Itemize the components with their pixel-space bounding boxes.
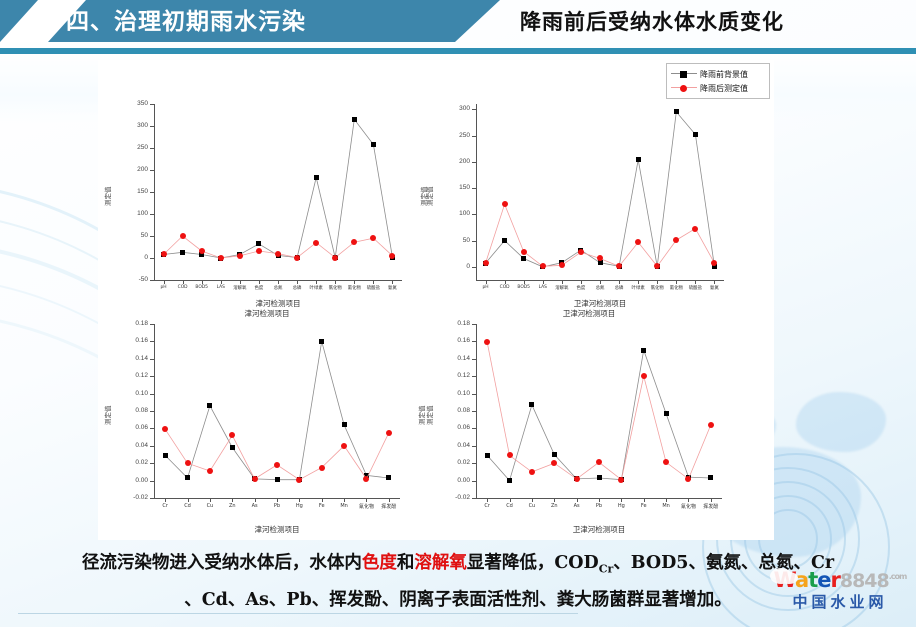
data-point-before	[552, 452, 557, 457]
y-tick-label: 0.04	[434, 442, 470, 449]
x-tick	[695, 280, 696, 284]
y-tick-label: 200	[112, 166, 148, 173]
y-tick-label: 0.14	[434, 355, 470, 362]
x-tick	[322, 498, 323, 502]
caption-highlight-do: 溶解氧	[414, 553, 467, 573]
y-tick-label: 0.08	[112, 407, 148, 414]
data-point-after	[551, 460, 557, 466]
x-tick	[188, 498, 189, 502]
y-tick-label: 150	[112, 188, 148, 195]
x-tick	[240, 280, 241, 284]
x-tick	[524, 280, 525, 284]
data-point-before	[352, 117, 357, 122]
y-tick	[150, 258, 154, 259]
y-tick	[472, 324, 476, 325]
data-point-after	[274, 462, 280, 468]
y-tick-label: 250	[112, 144, 148, 151]
data-point-before	[502, 238, 507, 243]
x-tick	[562, 280, 563, 284]
data-point-after	[529, 469, 535, 475]
y-tick	[150, 126, 154, 127]
legend-square-marker-icon	[671, 68, 697, 80]
header-rule	[0, 48, 916, 54]
y-tick	[472, 241, 476, 242]
y-axis-label: 测定值	[424, 406, 434, 426]
data-point-after	[574, 476, 580, 482]
y-tick-label: 0	[434, 263, 470, 270]
caption-seg-2: 和	[397, 553, 415, 573]
caption-cod-subscript: Cr	[599, 563, 614, 576]
y-tick-label: -0.02	[112, 494, 148, 501]
data-point-after	[692, 226, 698, 232]
y-tick	[150, 411, 154, 412]
y-tick	[472, 162, 476, 163]
slide-caption: 径流污染物进入受纳水体后，水体内色度和溶解氧显著降低，CODCr、BOD5、氨氮…	[20, 548, 896, 610]
data-point-after	[673, 237, 679, 243]
y-tick	[150, 359, 154, 360]
wm-letter-a: a	[795, 568, 808, 592]
caption-seg-1: 径流污染物进入受纳水体后，水体内	[82, 553, 362, 573]
series-line-after	[108, 308, 426, 536]
x-tick-label: 氨氮	[374, 285, 410, 291]
data-point-after	[180, 233, 186, 239]
data-point-before	[230, 445, 235, 450]
x-tick	[259, 280, 260, 284]
data-point-after	[341, 443, 347, 449]
data-point-after	[218, 255, 224, 261]
y-tick-label: 300	[434, 105, 470, 112]
y-tick	[150, 446, 154, 447]
y-tick	[150, 376, 154, 377]
y-tick	[150, 498, 154, 499]
legend-label-after: 降雨后测定值	[700, 83, 748, 94]
y-tick	[472, 214, 476, 215]
data-point-after	[275, 251, 281, 257]
y-tick-label: 150	[434, 184, 470, 191]
y-tick	[472, 498, 476, 499]
data-point-before	[275, 477, 280, 482]
legend-label-before: 降雨前背景值	[700, 69, 748, 80]
data-point-after	[596, 459, 602, 465]
data-point-before	[597, 475, 602, 480]
x-tick	[577, 498, 578, 502]
y-axis-line	[476, 324, 477, 498]
y-axis-label: 测定值	[102, 406, 112, 426]
y-tick-label: 0.10	[434, 390, 470, 397]
x-tick	[221, 280, 222, 284]
chart-title: 津河检测项目	[108, 308, 426, 319]
series-line-before	[108, 308, 426, 536]
y-tick-label: 0.04	[112, 442, 148, 449]
splash-blob	[796, 392, 886, 452]
y-axis-line	[154, 104, 155, 280]
y-axis-line	[154, 324, 155, 498]
chart-jinhe-general: -50050100150200250300350pHCODBOD5LAS溶解氧色…	[108, 98, 426, 310]
x-tick	[344, 498, 345, 502]
y-tick-label: 0.00	[434, 477, 470, 484]
x-tick	[688, 498, 689, 502]
data-point-before	[507, 478, 512, 483]
y-tick	[150, 170, 154, 171]
y-axis-line	[476, 104, 477, 280]
series-line-before	[430, 98, 748, 310]
y-tick	[150, 214, 154, 215]
wm-letter-r: r	[831, 568, 840, 592]
wm-letter-t: t	[808, 568, 817, 592]
x-axis-label: 卫津河检测项目	[476, 524, 722, 535]
data-point-before	[342, 422, 347, 427]
data-point-after	[663, 459, 669, 465]
x-tick	[676, 280, 677, 284]
wm-letter-e: e	[817, 568, 830, 592]
y-tick	[472, 267, 476, 268]
x-tick	[486, 280, 487, 284]
x-tick	[366, 498, 367, 502]
data-point-before	[163, 453, 168, 458]
y-tick	[472, 359, 476, 360]
x-tick	[711, 498, 712, 502]
x-tick	[621, 498, 622, 502]
x-tick	[599, 498, 600, 502]
data-point-before	[180, 250, 185, 255]
y-tick-label: 0.08	[434, 407, 470, 414]
page-subtitle: 降雨前后受纳水体水质变化	[520, 4, 890, 40]
y-tick	[472, 411, 476, 412]
watermark-logo: Water8848.com 中国水业网	[772, 566, 908, 618]
x-tick	[505, 280, 506, 284]
x-tick	[335, 280, 336, 284]
y-tick-label: 0.18	[112, 320, 148, 327]
data-point-before	[386, 475, 391, 480]
y-tick-label: 50	[434, 237, 470, 244]
y-tick-label: 0.06	[434, 424, 470, 431]
page-title: 四、治理初期雨水污染	[66, 4, 396, 40]
data-point-after	[559, 262, 565, 268]
data-point-after	[332, 255, 338, 261]
x-tick	[657, 280, 658, 284]
y-tick	[472, 394, 476, 395]
y-tick-label: 300	[112, 122, 148, 129]
chart-weijinhe-metals: 卫津河检测项目-0.020.000.020.040.060.080.100.12…	[430, 308, 748, 536]
data-point-after	[685, 476, 691, 482]
data-point-after	[484, 339, 490, 345]
y-tick-label: 0	[112, 254, 148, 261]
slide-header: 四、治理初期雨水污染 降雨前后受纳水体水质变化	[0, 0, 916, 46]
y-tick-label: 0.10	[112, 390, 148, 397]
y-tick-label: 100	[434, 210, 470, 217]
x-tick	[487, 498, 488, 502]
y-tick	[150, 428, 154, 429]
x-tick	[581, 280, 582, 284]
data-point-before	[314, 175, 319, 180]
y-tick	[472, 428, 476, 429]
y-tick	[150, 394, 154, 395]
x-tick	[666, 498, 667, 502]
y-tick-label: -0.02	[434, 494, 470, 501]
x-tick	[297, 280, 298, 284]
legend-item-after: 降雨后测定值	[671, 81, 765, 95]
y-tick-label: 0.12	[112, 372, 148, 379]
x-tick	[210, 498, 211, 502]
y-tick-label: 200	[434, 158, 470, 165]
data-point-after	[502, 201, 508, 207]
x-axis-label: 津河检测项目	[154, 524, 400, 535]
legend-circle-marker-icon	[671, 82, 697, 94]
x-tick	[714, 280, 715, 284]
chart-legend: 降雨前背景值 降雨后测定值	[666, 63, 770, 99]
x-tick	[232, 498, 233, 502]
y-tick-label: 100	[112, 210, 148, 217]
watermark-chinese-name: 中国水业网	[772, 592, 908, 612]
watermark-cloud-icon	[770, 568, 792, 584]
y-tick	[472, 463, 476, 464]
data-point-after	[483, 260, 489, 266]
watermark-wordmark: Water8848.com	[772, 566, 908, 592]
data-point-after	[319, 465, 325, 471]
x-tick-label: 氨氮	[696, 285, 732, 291]
data-point-after	[521, 249, 527, 255]
caption-seg-3: 显著降低，COD	[467, 553, 599, 573]
data-point-before	[674, 109, 679, 114]
data-point-after	[507, 452, 513, 458]
data-point-after	[313, 240, 319, 246]
x-tick	[183, 280, 184, 284]
y-tick-label: 0.16	[112, 337, 148, 344]
x-tick	[202, 280, 203, 284]
y-tick-label: 0.12	[434, 372, 470, 379]
data-point-after	[207, 468, 213, 474]
y-tick	[150, 341, 154, 342]
data-point-after	[229, 432, 235, 438]
x-tick-label: 挥发酚	[371, 503, 407, 510]
chart-title: 卫津河检测项目	[430, 308, 748, 319]
data-point-after	[252, 476, 258, 482]
y-tick-label: 0.14	[112, 355, 148, 362]
series-line-before	[430, 308, 748, 536]
series-line-before	[108, 98, 426, 310]
y-tick	[150, 192, 154, 193]
y-tick	[472, 188, 476, 189]
x-tick	[554, 498, 555, 502]
y-tick	[472, 376, 476, 377]
y-tick-label: 0.02	[112, 459, 148, 466]
y-tick	[150, 104, 154, 105]
wm-number: 8848	[840, 570, 889, 592]
x-tick	[389, 498, 390, 502]
caption-rule	[18, 613, 578, 614]
y-tick-label: 0.16	[434, 337, 470, 344]
data-point-after	[256, 248, 262, 254]
x-tick	[644, 498, 645, 502]
data-point-before	[319, 339, 324, 344]
series-line-after	[430, 308, 748, 536]
data-point-after	[351, 239, 357, 245]
chart-weijinhe-general: 050100150200250300pHCODBOD5LAS溶解氧色度总氮总磷叶…	[430, 98, 748, 310]
data-point-after	[370, 235, 376, 241]
data-point-after	[199, 248, 205, 254]
chart-jinhe-metals: 津河检测项目-0.020.000.020.040.060.080.100.120…	[108, 308, 426, 536]
x-tick	[255, 498, 256, 502]
data-point-before	[485, 453, 490, 458]
data-point-before	[641, 348, 646, 353]
data-point-before	[664, 411, 669, 416]
series-line-after	[430, 98, 748, 310]
x-tick-label: 挥发酚	[693, 503, 729, 510]
data-point-before	[636, 157, 641, 162]
series-line-after	[108, 98, 426, 310]
y-tick-label: 250	[434, 132, 470, 139]
x-tick	[392, 280, 393, 284]
data-point-before	[708, 475, 713, 480]
y-tick-label: 0.18	[434, 320, 470, 327]
data-point-after	[386, 430, 392, 436]
data-point-after	[363, 476, 369, 482]
y-tick-label: 0.02	[434, 459, 470, 466]
data-point-before	[693, 132, 698, 137]
y-tick	[150, 280, 154, 281]
data-point-before	[521, 256, 526, 261]
caption-highlight-color: 色度	[362, 553, 397, 573]
data-point-after	[641, 373, 647, 379]
data-point-after	[185, 460, 191, 466]
y-axis-label: 测定值	[102, 187, 112, 207]
y-tick	[150, 463, 154, 464]
y-tick-label: 350	[112, 100, 148, 107]
x-tick	[619, 280, 620, 284]
x-tick	[354, 280, 355, 284]
y-tick	[150, 324, 154, 325]
y-tick	[472, 446, 476, 447]
x-tick	[165, 498, 166, 502]
y-tick	[472, 109, 476, 110]
y-tick	[150, 481, 154, 482]
wm-dotcom: .com	[889, 572, 907, 581]
x-tick	[299, 498, 300, 502]
x-tick	[373, 280, 374, 284]
x-tick	[543, 280, 544, 284]
y-tick	[472, 136, 476, 137]
y-tick	[150, 236, 154, 237]
data-point-before	[371, 142, 376, 147]
x-tick	[164, 280, 165, 284]
data-point-after	[635, 239, 641, 245]
y-axis-label: 测定值	[424, 187, 434, 207]
data-point-before	[529, 402, 534, 407]
x-tick	[278, 280, 279, 284]
data-point-after	[294, 255, 300, 261]
y-tick-label: 0.00	[112, 477, 148, 484]
x-tick	[638, 280, 639, 284]
x-tick	[532, 498, 533, 502]
caption-line-1: 径流污染物进入受纳水体后，水体内色度和溶解氧显著降低，CODCr、BOD5、氨氮…	[20, 548, 896, 585]
data-point-after	[578, 249, 584, 255]
y-tick-label: -50	[112, 276, 148, 283]
y-tick-label: 0.06	[112, 424, 148, 431]
y-tick	[150, 148, 154, 149]
data-point-before	[256, 241, 261, 246]
data-point-before	[207, 403, 212, 408]
x-tick	[510, 498, 511, 502]
data-point-after	[237, 253, 243, 259]
y-tick	[472, 341, 476, 342]
x-tick	[277, 498, 278, 502]
y-tick-label: 50	[112, 232, 148, 239]
y-tick	[472, 481, 476, 482]
x-tick	[600, 280, 601, 284]
caption-line-2: 、Cd、As、Pb、挥发酚、阴离子表面活性剂、粪大肠菌群显著增加。	[20, 585, 896, 616]
data-point-before	[185, 475, 190, 480]
legend-item-before: 降雨前背景值	[671, 67, 765, 81]
x-tick	[316, 280, 317, 284]
data-point-after	[708, 422, 714, 428]
data-point-after	[162, 426, 168, 432]
